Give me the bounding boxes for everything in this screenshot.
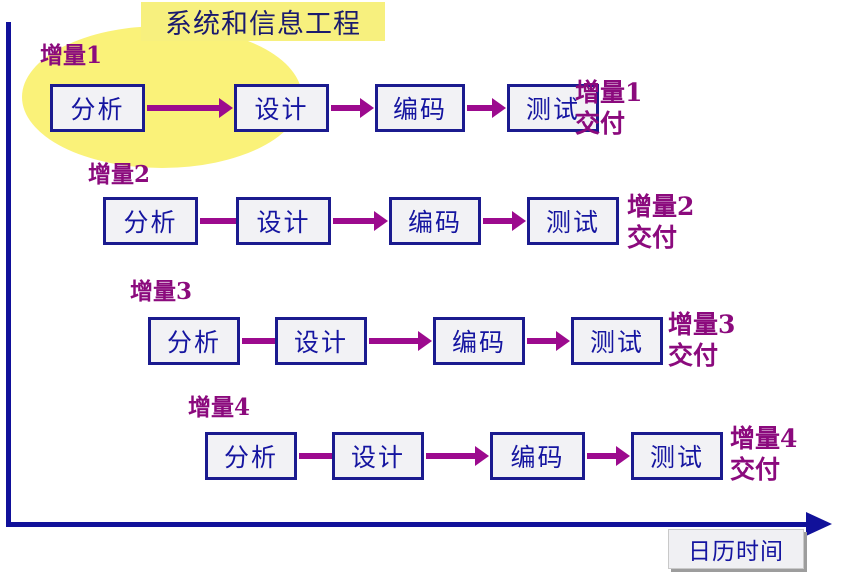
delivery-label-3-line1: 增量3 — [668, 310, 735, 341]
incremental-model-diagram: 系统和信息工程 增量1 分析 设计 编码 测试 增量1 交付 增量2 分析 设计… — [0, 0, 863, 578]
stage-box-analysis-2[interactable]: 分析 — [103, 197, 198, 245]
stage-box-analysis-1[interactable]: 分析 — [50, 84, 145, 132]
process-row-1: 分析 设计 编码 测试 — [50, 84, 550, 136]
delivery-label-3: 增量3 交付 — [668, 310, 735, 371]
stage-box-design-3[interactable]: 设计 — [275, 317, 367, 365]
delivery-label-3-line2: 交付 — [668, 341, 735, 372]
vertical-axis — [6, 22, 11, 527]
delivery-label-4: 增量4 交付 — [730, 424, 797, 485]
delivery-label-1: 增量1 交付 — [575, 78, 642, 139]
increment-label-2: 增量2 — [88, 155, 150, 189]
increment-label-4: 增量4 — [188, 388, 250, 422]
arrow-design-to-coding-3 — [369, 338, 419, 344]
increment-label-1: 增量1 — [40, 36, 102, 70]
stage-box-coding-1[interactable]: 编码 — [375, 84, 465, 132]
arrow-design-to-coding-4 — [426, 453, 476, 459]
stage-box-analysis-4[interactable]: 分析 — [205, 432, 297, 480]
delivery-label-4-line1: 增量4 — [730, 424, 797, 455]
stage-box-design-4[interactable]: 设计 — [332, 432, 424, 480]
delivery-label-2-line1: 增量2 — [627, 192, 694, 223]
stage-box-design-2[interactable]: 设计 — [236, 197, 331, 245]
arrow-coding-to-testing-3 — [527, 338, 557, 344]
stage-box-testing-2[interactable]: 测试 — [527, 197, 619, 245]
increment-label-3: 增量3 — [130, 272, 192, 306]
stage-box-analysis-3[interactable]: 分析 — [148, 317, 240, 365]
delivery-label-4-line2: 交付 — [730, 455, 797, 486]
arrow-analysis-to-design-1 — [147, 105, 220, 111]
stage-box-coding-3[interactable]: 编码 — [433, 317, 525, 365]
axis-arrowhead-icon — [806, 512, 832, 536]
delivery-label-1-line1: 增量1 — [575, 78, 642, 109]
arrow-coding-to-testing-4 — [587, 453, 617, 459]
stage-box-testing-4[interactable]: 测试 — [631, 432, 723, 480]
stage-box-coding-2[interactable]: 编码 — [389, 197, 481, 245]
stage-box-testing-3[interactable]: 测试 — [571, 317, 663, 365]
process-row-2: 分析 设计 编码 测试 — [103, 197, 608, 249]
process-row-3: 分析 设计 编码 测试 — [148, 317, 653, 369]
calendar-time-caption: 日历时间 — [668, 529, 804, 569]
arrow-coding-to-testing-2 — [483, 218, 513, 224]
delivery-label-1-line2: 交付 — [575, 109, 642, 140]
delivery-label-2-line2: 交付 — [627, 223, 694, 254]
diagram-title: 系统和信息工程 — [141, 2, 385, 41]
horizontal-axis — [6, 522, 811, 527]
arrow-design-to-coding-2 — [333, 218, 375, 224]
arrow-design-to-coding-1 — [331, 105, 361, 111]
stage-box-coding-4[interactable]: 编码 — [490, 432, 585, 480]
process-row-4: 分析 设计 编码 测试 — [205, 432, 710, 484]
stage-box-design-1[interactable]: 设计 — [234, 84, 329, 132]
delivery-label-2: 增量2 交付 — [627, 192, 694, 253]
arrow-coding-to-testing-1 — [467, 105, 493, 111]
